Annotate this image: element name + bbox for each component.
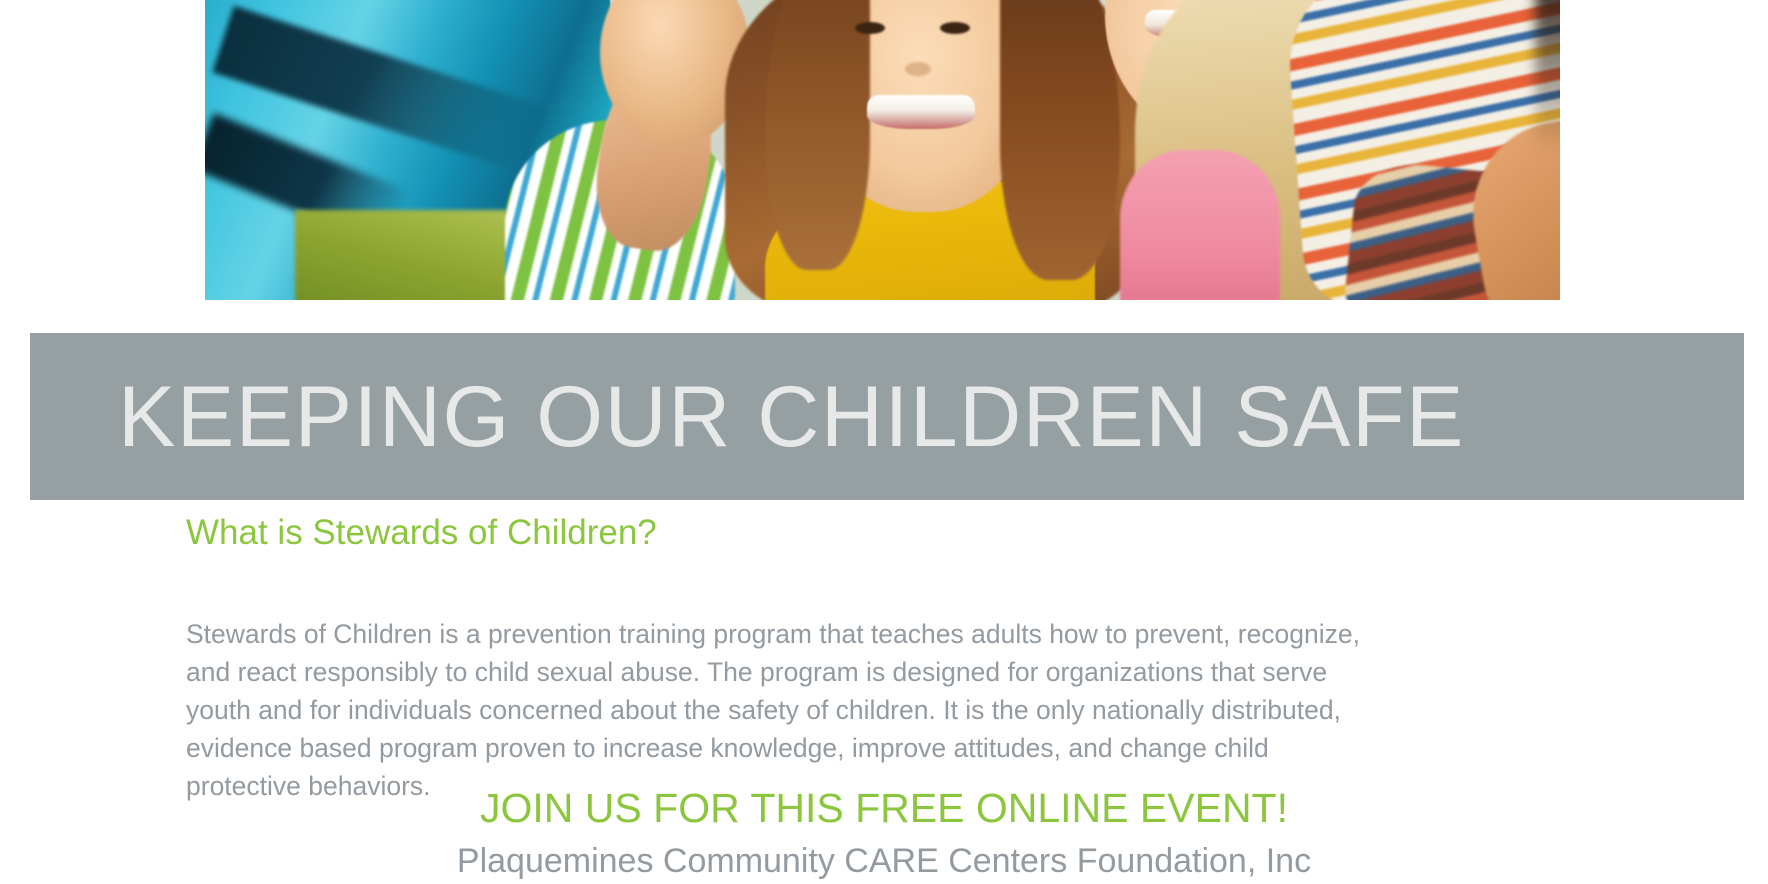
section-heading: What is Stewards of Children? (186, 512, 1586, 554)
child-center-eye-left (855, 22, 885, 34)
title-banner: KEEPING OUR CHILDREN SAFE (30, 333, 1744, 500)
body-paragraph: Stewards of Children is a prevention tra… (186, 554, 1378, 805)
child-center-smile (867, 95, 975, 129)
child-center-hair-right (1000, 0, 1120, 280)
page-title: KEEPING OUR CHILDREN SAFE (118, 374, 1465, 460)
child-center-nose (905, 62, 931, 76)
hero-photo-image (205, 0, 1560, 300)
closing-block: JOIN US FOR THIS FREE ONLINE EVENT! Plaq… (0, 786, 1768, 882)
organization-name: Plaquemines Community CARE Centers Found… (0, 832, 1768, 883)
child-right-pink-shirt (1120, 150, 1280, 300)
photo-right-shadow (1535, 0, 1560, 150)
hero-photo (205, 0, 1560, 300)
child-center-eye-right (940, 22, 970, 34)
content-block: What is Stewards of Children? Stewards o… (186, 512, 1586, 805)
child-center-hair-left (765, 0, 870, 270)
join-us-callout: JOIN US FOR THIS FREE ONLINE EVENT! (0, 786, 1768, 832)
